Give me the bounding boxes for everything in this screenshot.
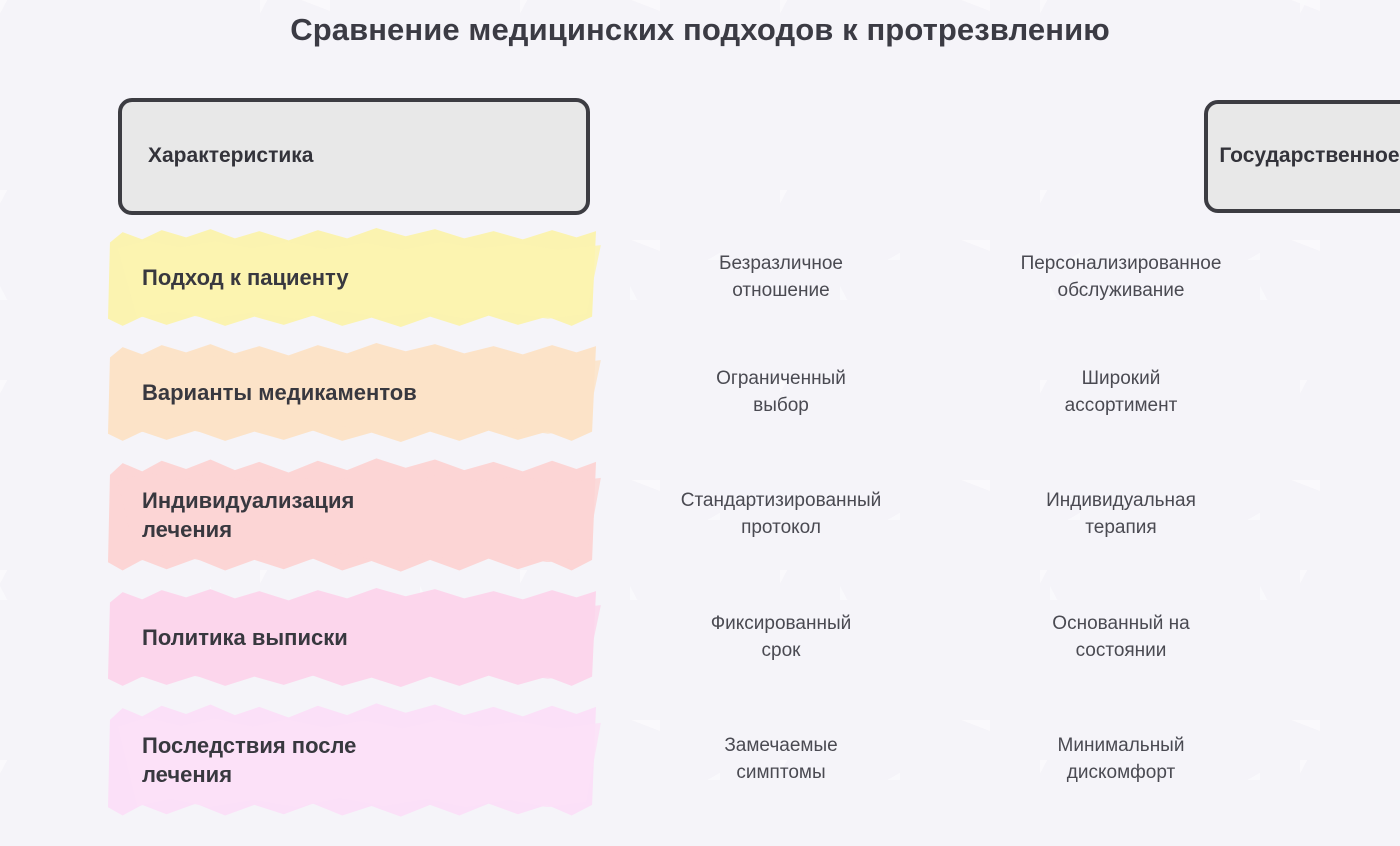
row-public-cell: Стандартизированный протокол (600, 450, 958, 580)
row-public-cell: Замечаемые симптомы (600, 695, 958, 825)
cell-value-public: Замечаемые симптомы (602, 695, 960, 825)
table-row: Варианты медикаментов Ограниченный выбор… (0, 335, 1400, 450)
page-title: Сравнение медицинских подходов к протрез… (0, 12, 1400, 48)
table-header-row: Характеристика Государственное учреждени… (0, 95, 1400, 220)
row-private-cell: Персонализированное обслуживание (958, 220, 1298, 335)
row-feature-cell: Подход к пациенту (0, 220, 600, 335)
table-row: Политика выписки Фиксированный срок Осно… (0, 580, 1400, 695)
row-private-cell: Индивидуальная терапия (958, 450, 1298, 580)
row-public-cell: Фиксированный срок (600, 580, 958, 695)
table-row: Индивидуализация лечения Стандартизирова… (0, 450, 1400, 580)
header-col-feature: Характеристика (0, 95, 600, 220)
feature-label: Политика выписки (142, 580, 560, 695)
cell-value-public: Ограниченный выбор (602, 335, 960, 450)
feature-label: Варианты медикаментов (142, 335, 560, 450)
feature-label: Подход к пациенту (142, 220, 560, 335)
cell-value-public: Безразличное отношение (602, 220, 960, 335)
row-private-cell: Минимальный дискомфорт (958, 695, 1298, 825)
row-public-cell: Безразличное отношение (600, 220, 958, 335)
header-cell-characteristic: Характеристика (118, 98, 590, 215)
cell-value-private: Минимальный дискомфорт (951, 695, 1291, 825)
cell-value-public: Стандартизированный протокол (602, 450, 960, 580)
cell-value-private: Индивидуальная терапия (951, 450, 1291, 580)
row-feature-cell: Политика выписки (0, 580, 600, 695)
row-public-cell: Ограниченный выбор (600, 335, 958, 450)
feature-label: Последствия после лечения (142, 695, 560, 825)
cell-value-public: Фиксированный срок (602, 580, 960, 695)
header-col-private: Частное учреждение (958, 95, 1298, 220)
row-private-cell: Основанный на состоянии (958, 580, 1298, 695)
cell-value-private: Широкий ассортимент (951, 335, 1291, 450)
row-feature-cell: Последствия после лечения (0, 695, 600, 825)
row-private-cell: Широкий ассортимент (958, 335, 1298, 450)
header-label-characteristic: Характеристика (148, 143, 586, 170)
table-row: Подход к пациенту Безразличное отношение… (0, 220, 1400, 335)
cell-value-private: Персонализированное обслуживание (951, 220, 1291, 335)
feature-label: Индивидуализация лечения (142, 450, 560, 580)
comparison-table: Характеристика Государственное учреждени… (0, 95, 1400, 825)
cell-value-private: Основанный на состоянии (951, 580, 1291, 695)
row-feature-cell: Варианты медикаментов (0, 335, 600, 450)
header-col-public: Государственное учреждение (600, 95, 958, 220)
table-row: Последствия после лечения Замечаемые сим… (0, 695, 1400, 825)
row-feature-cell: Индивидуализация лечения (0, 450, 600, 580)
